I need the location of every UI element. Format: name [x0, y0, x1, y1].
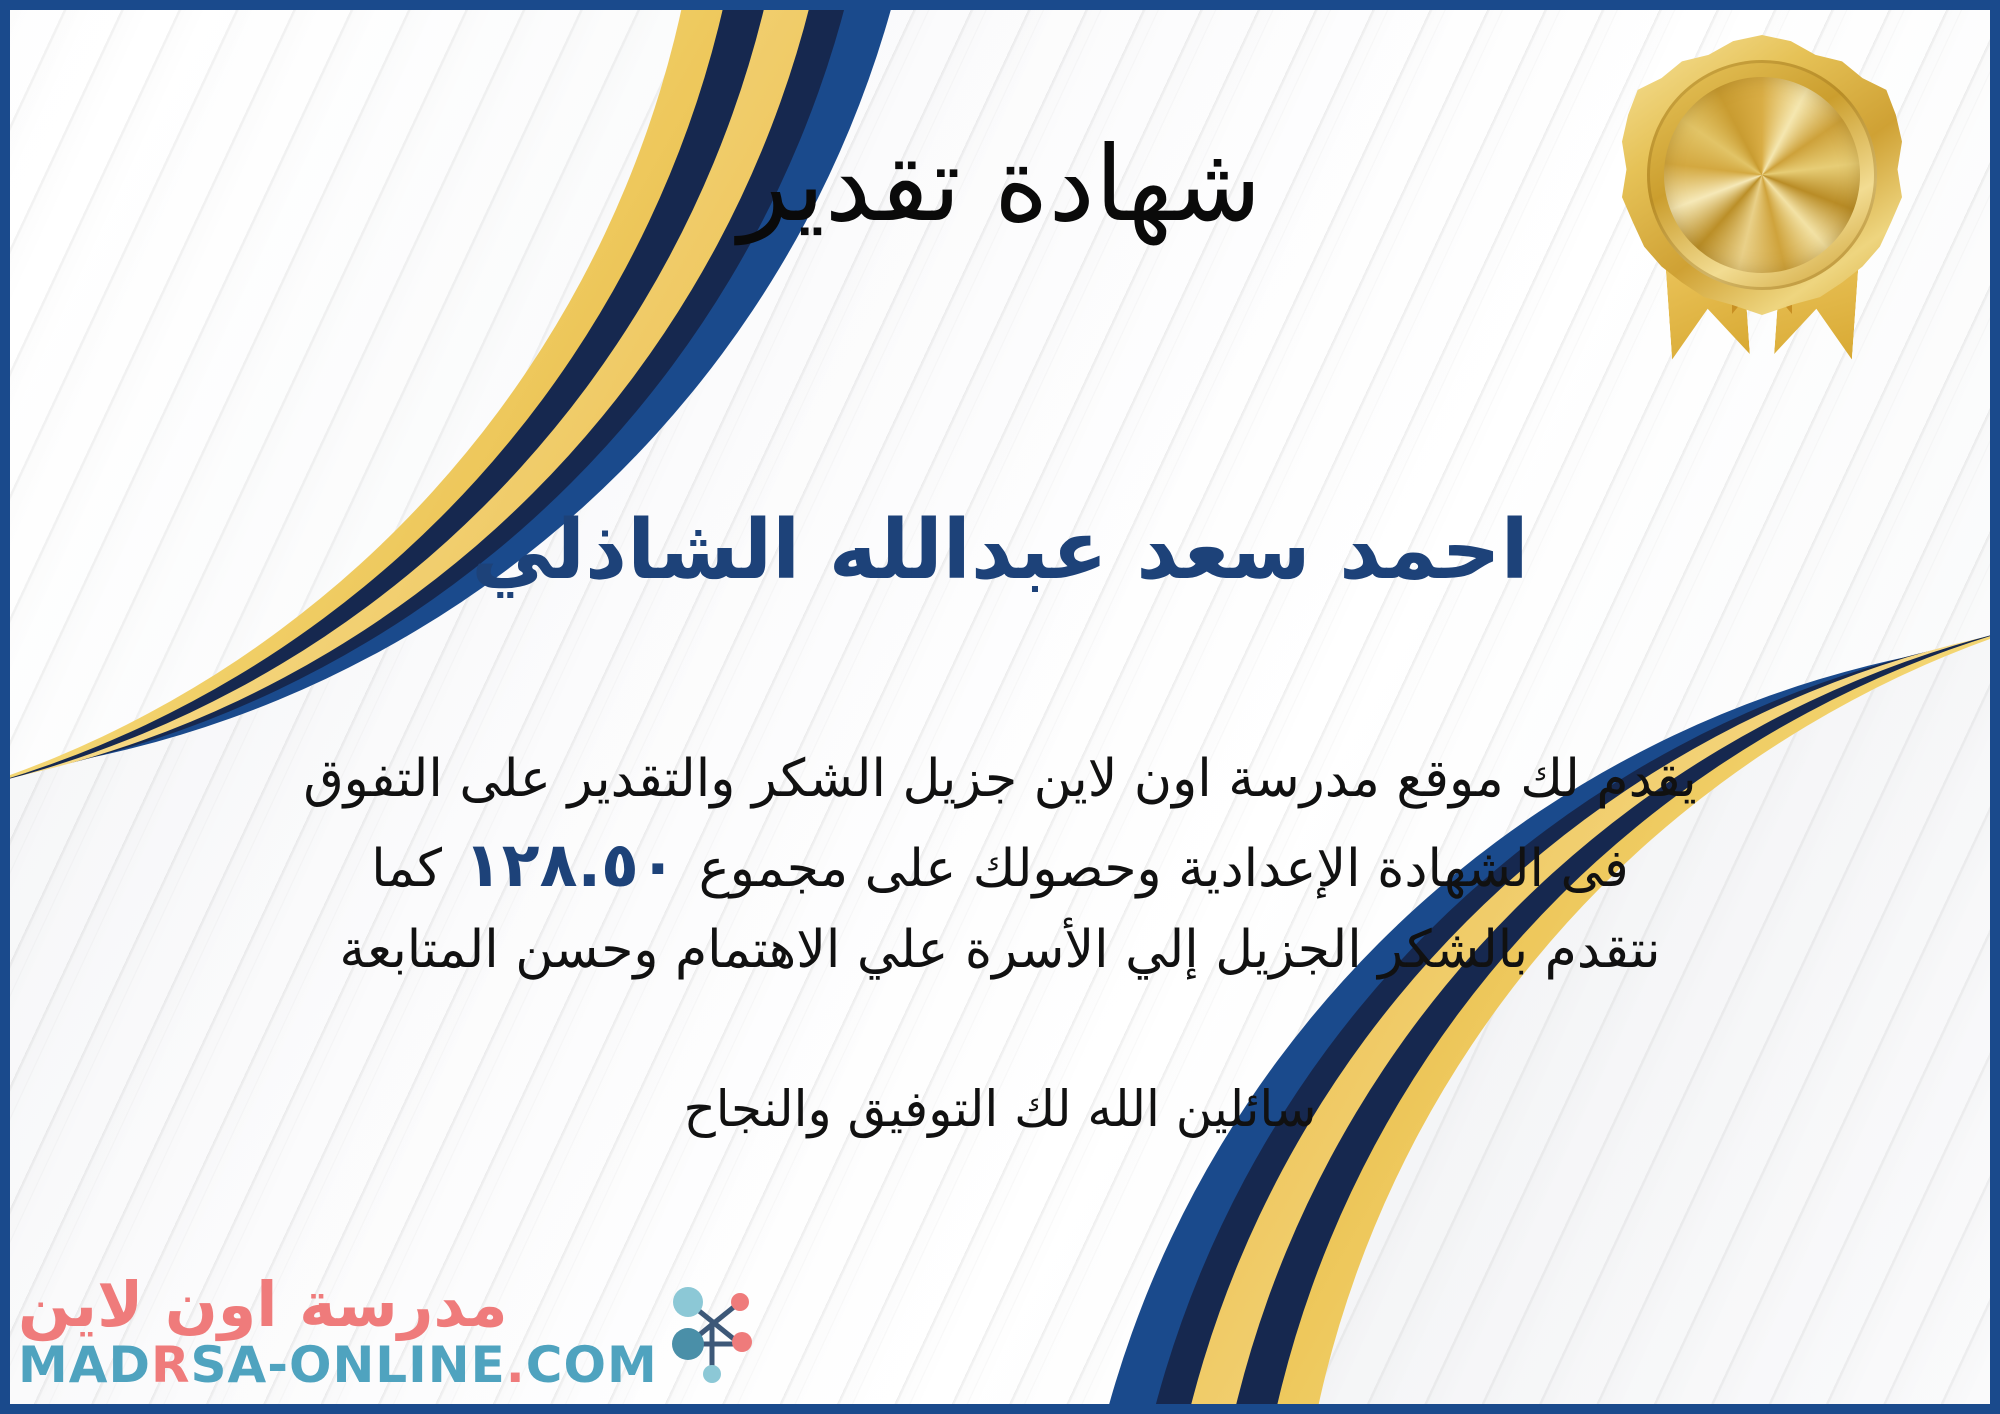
body-line-1: يقدم لك موقع مدرسة اون لاين جزيل الشكر و…: [60, 740, 1940, 818]
network-nodes-icon: [666, 1280, 762, 1384]
logo-url-part2: SA-ONLINE: [190, 1336, 505, 1394]
body-line-2-prefix: فى الشهادة الإعدادية وحصولك على مجموع: [699, 839, 1629, 899]
body-line-2: فى الشهادة الإعدادية وحصولك على مجموع١٢٨…: [60, 818, 1940, 911]
site-logo[interactable]: مدرسة اون لاين MADRSA-ONLINE.COM: [18, 1272, 762, 1392]
logo-url-r: R: [151, 1336, 191, 1394]
closing-wish: سائلين الله لك التوفيق والنجاح: [0, 1080, 2000, 1138]
certificate-canvas: شهادة تقدير احمد سعد عبدالله الشاذلي يقد…: [0, 0, 2000, 1414]
recipient-name: احمد سعد عبدالله الشاذلي: [0, 505, 2000, 597]
logo-text-block: مدرسة اون لاين MADRSA-ONLINE.COM: [18, 1272, 658, 1392]
certificate-content: شهادة تقدير احمد سعد عبدالله الشاذلي يقد…: [0, 0, 2000, 1414]
body-line-2-suffix: كما: [371, 839, 442, 899]
body-line-3: نتقدم بالشكر الجزيل إلي الأسرة علي الاهت…: [60, 911, 1940, 989]
grade-value: ١٢٨.٥٠: [442, 818, 699, 911]
logo-url-part1: MAD: [18, 1336, 151, 1394]
logo-arabic-name: مدرسة اون لاين: [18, 1272, 508, 1338]
logo-url-part3: COM: [526, 1336, 658, 1394]
logo-url: MADRSA-ONLINE.COM: [18, 1338, 658, 1392]
logo-url-dot: .: [506, 1336, 526, 1394]
certificate-body: يقدم لك موقع مدرسة اون لاين جزيل الشكر و…: [60, 740, 1940, 989]
page-title: شهادة تقدير: [0, 130, 2000, 239]
